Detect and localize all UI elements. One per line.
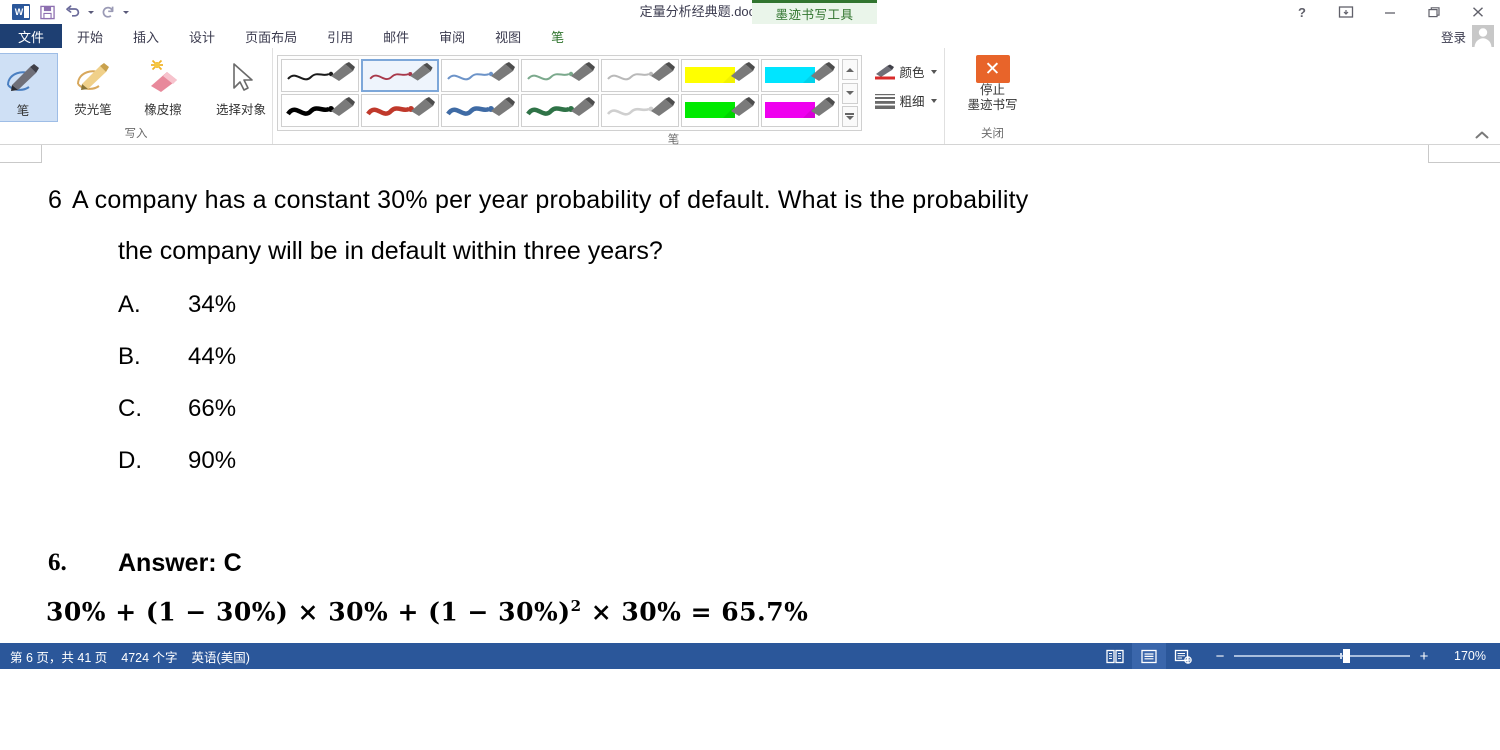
pen-red-thick[interactable] (361, 94, 439, 127)
stop-inking-label-line2: 墨迹书写 (967, 98, 1017, 113)
highlighter-tool-label: 荧光笔 (74, 99, 112, 118)
ribbon-group-pens: 颜色 粗细 笔 (272, 48, 944, 144)
pen-color-icon (874, 64, 896, 80)
highlighter-green[interactable] (681, 94, 759, 127)
save-button[interactable] (34, 1, 60, 23)
option-a-letter: A. (118, 279, 188, 331)
window-controls: ? (1280, 0, 1500, 24)
tab-references[interactable]: 引用 (312, 24, 368, 48)
tab-row-spacer (579, 24, 1441, 48)
zoom-out-button[interactable]: − (1214, 648, 1226, 665)
eraser-icon (141, 57, 185, 97)
option-c: C. 66% (0, 383, 1500, 435)
stop-inking-button[interactable]: ✕ 停止 墨迹书写 (956, 53, 1030, 113)
word-count[interactable]: 4724 个字 (121, 647, 191, 666)
option-a: A. 34% (0, 279, 1500, 331)
pen-tool-button[interactable]: 笔 (0, 53, 58, 122)
restore-icon (1427, 6, 1441, 18)
tab-view[interactable]: 视图 (480, 24, 536, 48)
pen-thickness-icon (874, 93, 896, 109)
pen-black-thin[interactable] (281, 59, 359, 92)
gallery-scroll-down-button[interactable] (842, 83, 858, 104)
chevron-down-icon (931, 99, 937, 103)
restore-button[interactable] (1412, 0, 1456, 24)
status-bar-right: − + 170% (1098, 643, 1500, 669)
question-number: 6 (0, 175, 72, 226)
pen-color-button[interactable]: 颜色 (870, 59, 941, 84)
user-avatar-icon (1472, 25, 1494, 47)
tab-home[interactable]: 开始 (62, 24, 118, 48)
quick-access-toolbar: W (0, 0, 130, 24)
formula-superscript: 2 (571, 597, 582, 615)
signin-label: 登录 (1441, 27, 1466, 46)
chevron-down-icon (931, 70, 937, 74)
ribbon-group-close: ✕ 停止 墨迹书写 关闭 (944, 48, 1040, 144)
option-a-text: 34% (188, 279, 236, 331)
redo-icon (100, 5, 116, 19)
pen-black-thick[interactable] (281, 94, 359, 127)
print-layout-view-button[interactable] (1132, 643, 1166, 669)
document-content: 6 A company has a constant 30% per year … (0, 175, 1500, 626)
read-mode-view-button[interactable] (1098, 643, 1132, 669)
pen-blue-thick[interactable] (441, 94, 519, 127)
pen-gallery[interactable] (277, 55, 862, 131)
tab-mailings[interactable]: 邮件 (368, 24, 424, 48)
web-layout-view-button[interactable] (1166, 643, 1200, 669)
zoom-slider[interactable]: − + (1200, 648, 1440, 665)
document-page[interactable]: 6 A company has a constant 30% per year … (0, 145, 1500, 643)
print-layout-icon (1140, 649, 1158, 664)
help-button[interactable]: ? (1280, 0, 1324, 24)
select-objects-cursor-icon (223, 57, 259, 97)
option-d: D. 90% (0, 435, 1500, 487)
margin-marker-top-left (0, 145, 42, 163)
scroll-up-icon (846, 68, 854, 72)
close-icon (1471, 6, 1485, 18)
close-x-icon: ✕ (976, 55, 1010, 83)
question-mark-icon: ? (1298, 5, 1306, 20)
customize-qat-button[interactable] (121, 1, 130, 23)
answer-number: 6. (48, 543, 118, 583)
answer-heading: 6. Answer: C (0, 543, 1500, 583)
pen-blue-thin[interactable] (441, 59, 519, 92)
select-objects-label: 选择对象 (216, 99, 266, 118)
zoom-slider-track[interactable] (1234, 655, 1410, 657)
chevron-up-icon (1474, 130, 1490, 140)
gallery-more-button[interactable] (842, 106, 858, 127)
undo-icon (65, 5, 81, 19)
minimize-button[interactable] (1368, 0, 1412, 24)
gallery-scroll-up-button[interactable] (842, 59, 858, 80)
option-d-letter: D. (118, 435, 188, 487)
answer-label: Answer: C (118, 543, 242, 583)
question-line-1: 6 A company has a constant 30% per year … (0, 175, 1500, 226)
zoom-level-label[interactable]: 170% (1440, 649, 1486, 663)
undo-button[interactable] (60, 1, 86, 23)
tab-file[interactable]: 文件 (0, 24, 62, 48)
question-text-line1: A company has a constant 30% per year pr… (72, 175, 1500, 226)
chevron-down-icon (88, 11, 94, 14)
pen-green-thick[interactable] (521, 94, 599, 127)
pen-tool-label: 笔 (17, 100, 30, 119)
contextual-tab-group-label: 墨迹书写工具 (752, 0, 877, 24)
avatar[interactable] (1472, 25, 1494, 47)
option-b-text: 44% (188, 331, 236, 383)
formula-part-1: 30% + (1 − 30%) × 30% + (1 − 30%) (46, 597, 571, 626)
pen-gray-thin[interactable] (601, 59, 679, 92)
eraser-tool-label: 橡皮擦 (144, 99, 182, 118)
ribbon-tab-row: 文件 开始 插入 设计 页面布局 引用 邮件 审阅 视图 笔 登录 (0, 24, 1500, 48)
option-b: B. 44% (0, 331, 1500, 383)
zoom-slider-midpoint (1340, 653, 1342, 659)
language-indicator[interactable]: 英语(美国) (192, 647, 264, 666)
option-c-text: 66% (188, 383, 236, 435)
tab-design[interactable]: 设计 (174, 24, 230, 48)
word-app-icon-label: W (15, 7, 24, 17)
highlighter-yellow[interactable] (681, 59, 759, 92)
formula-part-2: × 30% = 65.7% (582, 597, 809, 626)
customize-icon (123, 11, 129, 14)
zoom-in-button[interactable]: + (1418, 648, 1430, 665)
pen-icon (2, 58, 44, 98)
pen-green-thin[interactable] (521, 59, 599, 92)
page-info[interactable]: 第 6 页，共 41 页 (10, 647, 121, 666)
ribbon: 笔 荧光笔 (0, 48, 1500, 145)
pen-gray-thick[interactable] (601, 94, 679, 127)
gallery-more-icon (845, 113, 854, 120)
highlighter-magenta[interactable] (761, 94, 839, 127)
title-bar: W 定量分析经典题.docx - Microsoft Word 墨迹书写工具 (0, 0, 1500, 24)
question-text-line2: the company will be in default within th… (0, 226, 1500, 277)
tab-pen[interactable]: 笔 (536, 24, 579, 48)
highlighter-cyan[interactable] (761, 59, 839, 92)
undo-dropdown-button[interactable] (86, 1, 95, 23)
option-b-letter: B. (118, 331, 188, 383)
tab-review[interactable]: 审阅 (424, 24, 480, 48)
zoom-slider-thumb[interactable] (1343, 649, 1350, 663)
ribbon-display-options-icon (1338, 5, 1354, 19)
ribbon-group-write-label: 写入 (6, 125, 266, 142)
window-title: 定量分析经典题.docx - Microsoft Word (0, 0, 1500, 24)
save-icon (40, 5, 55, 20)
word-app-icon: W (8, 1, 34, 23)
option-c-letter: C. (118, 383, 188, 435)
document-area[interactable]: 6 A company has a constant 30% per year … (0, 145, 1500, 643)
stop-inking-label-line1: 停止 (980, 83, 1005, 98)
close-button[interactable] (1456, 0, 1500, 24)
highlighter-icon (72, 57, 114, 97)
pen-red-thin[interactable] (361, 59, 439, 92)
eraser-tool-button[interactable]: 橡皮擦 (128, 53, 198, 120)
option-d-text: 90% (188, 435, 236, 487)
status-bar: 第 6 页，共 41 页 4724 个字 英语(美国) (0, 643, 1500, 669)
minimize-icon (1383, 6, 1397, 18)
pen-gallery-scrollbar[interactable] (842, 59, 858, 127)
status-bar-left: 第 6 页，共 41 页 4724 个字 英语(美国) (0, 647, 264, 666)
ribbon-group-close-label: 关闭 (951, 125, 1034, 142)
scroll-down-icon (846, 91, 854, 95)
pen-thickness-button[interactable]: 粗细 (870, 88, 941, 113)
pen-thickness-label: 粗细 (900, 91, 925, 110)
highlighter-tool-button[interactable]: 荧光笔 (58, 53, 128, 120)
web-layout-icon (1174, 649, 1192, 664)
pen-color-label: 颜色 (900, 62, 925, 81)
ribbon-group-write: 笔 荧光笔 (0, 48, 272, 144)
tab-page-layout[interactable]: 页面布局 (230, 24, 312, 48)
redo-button[interactable] (95, 1, 121, 23)
ribbon-display-options-button[interactable] (1324, 0, 1368, 24)
answer-formula: 30% + (1 − 30%) × 30% + (1 − 30%)2 × 30%… (0, 597, 1500, 626)
tab-insert[interactable]: 插入 (118, 24, 174, 48)
read-mode-icon (1106, 649, 1124, 664)
pen-gallery-grid (281, 59, 839, 127)
collapse-ribbon-button[interactable] (1474, 130, 1490, 140)
signin-area[interactable]: 登录 (1441, 24, 1500, 48)
margin-marker-top-right (1428, 145, 1500, 163)
